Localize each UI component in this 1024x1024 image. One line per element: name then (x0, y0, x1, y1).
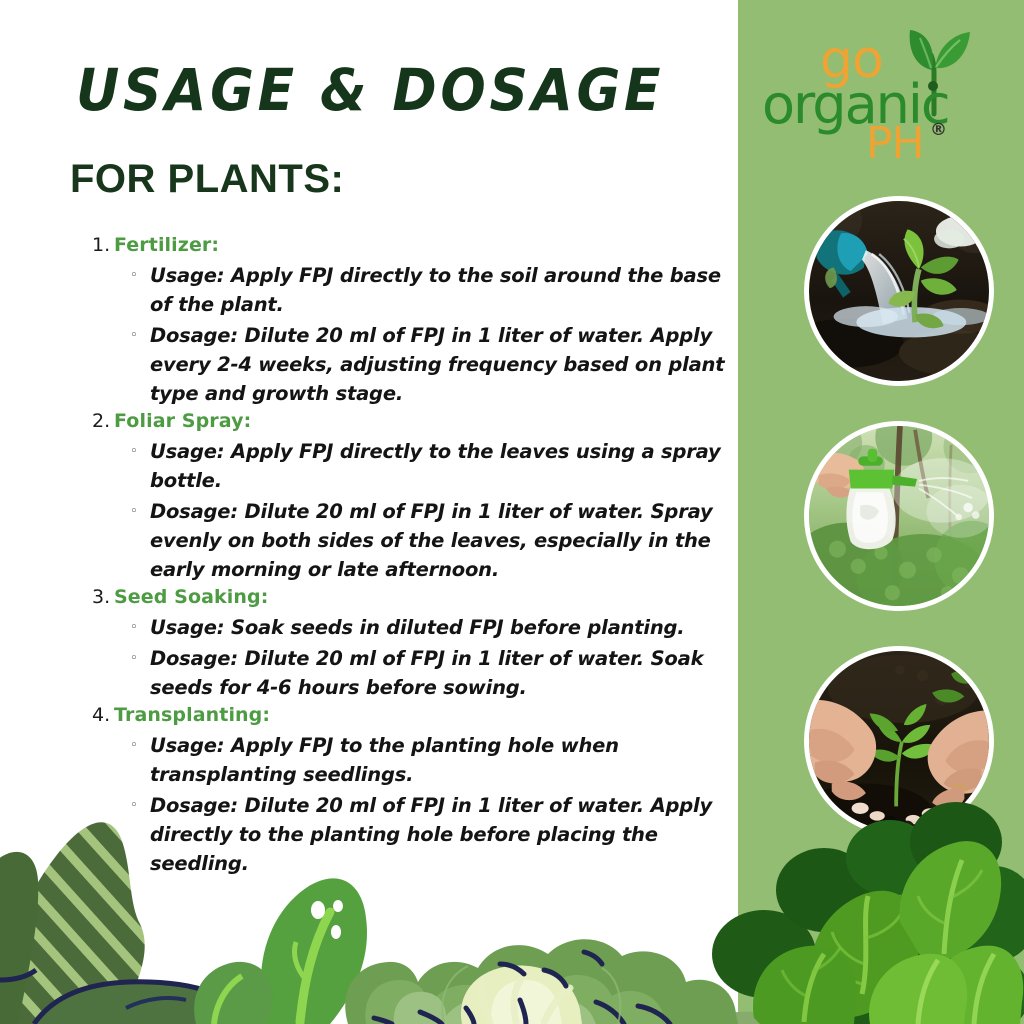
sub-list-item-text: Dosage: Dilute 20 ml of FPJ in 1 liter o… (150, 791, 732, 878)
list-item-number: 3. (92, 584, 114, 611)
hands-planting-photo (804, 646, 994, 836)
sub-list-item-text: Usage: Apply FPJ directly to the soil ar… (150, 261, 732, 319)
watering-can-photo (804, 196, 994, 386)
bullet-icon: ◦ (130, 613, 150, 642)
sub-list-item: ◦Usage: Apply FPJ directly to the soil a… (130, 261, 732, 319)
bullet-icon: ◦ (130, 644, 150, 673)
list-item-header: 3.Seed Soaking: (92, 584, 732, 611)
sub-list-item-text: Usage: Apply FPJ directly to the leaves … (150, 437, 732, 495)
sub-list: ◦Usage: Soak seeds in diluted FPJ before… (130, 613, 732, 702)
list-item-label: Seed Soaking: (114, 584, 268, 611)
sub-list-item-text: Dosage: Dilute 20 ml of FPJ in 1 liter o… (150, 497, 732, 584)
page-title: USAGE & DOSAGE (76, 56, 664, 124)
list-item-number: 1. (92, 232, 114, 259)
list-item-header: 1.Fertilizer: (92, 232, 732, 259)
list-item: 4.Transplanting:◦Usage: Apply FPJ to the… (92, 702, 732, 878)
list-item: 3.Seed Soaking:◦Usage: Soak seeds in dil… (92, 584, 732, 702)
bullet-icon: ◦ (130, 261, 150, 290)
sub-list-item: ◦Dosage: Dilute 20 ml of FPJ in 1 liter … (130, 791, 732, 878)
go-organic-ph-logo: go organic PH ® (762, 34, 998, 160)
bullet-icon: ◦ (130, 731, 150, 760)
sub-list-item: ◦Dosage: Dilute 20 ml of FPJ in 1 liter … (130, 321, 732, 408)
bullet-icon: ◦ (130, 497, 150, 526)
list-item-label: Fertilizer: (114, 232, 219, 259)
list-item-label: Foliar Spray: (114, 408, 251, 435)
bullet-icon: ◦ (130, 791, 150, 820)
sub-list-item: ◦Dosage: Dilute 20 ml of FPJ in 1 liter … (130, 644, 732, 702)
sub-list-item-text: Dosage: Dilute 20 ml of FPJ in 1 liter o… (150, 321, 732, 408)
list-item-number: 4. (92, 702, 114, 729)
list-item: 1.Fertilizer:◦Usage: Apply FPJ directly … (92, 232, 732, 408)
list-item: 2.Foliar Spray:◦Usage: Apply FPJ directl… (92, 408, 732, 584)
content-column: USAGE & DOSAGE FOR PLANTS: 1.Fertilizer:… (0, 0, 740, 1024)
list-item-number: 2. (92, 408, 114, 435)
bullet-icon: ◦ (130, 437, 150, 466)
section-subtitle: FOR PLANTS: (70, 157, 344, 202)
sub-list: ◦Usage: Apply FPJ to the planting hole w… (130, 731, 732, 878)
logo-text-ph: PH (866, 122, 924, 166)
sub-list-item: ◦Usage: Soak seeds in diluted FPJ before… (130, 613, 732, 642)
registered-trademark-icon: ® (930, 120, 947, 140)
sub-list-item-text: Usage: Apply FPJ to the planting hole wh… (150, 731, 732, 789)
sub-list: ◦Usage: Apply FPJ directly to the soil a… (130, 261, 732, 408)
sub-list-item: ◦Usage: Apply FPJ directly to the leaves… (130, 437, 732, 495)
sub-list: ◦Usage: Apply FPJ directly to the leaves… (130, 437, 732, 584)
sub-list-item: ◦Dosage: Dilute 20 ml of FPJ in 1 liter … (130, 497, 732, 584)
bullet-icon: ◦ (130, 321, 150, 350)
sub-list-item-text: Usage: Soak seeds in diluted FPJ before … (150, 613, 685, 642)
list-item-header: 2.Foliar Spray: (92, 408, 732, 435)
sub-list-item-text: Dosage: Dilute 20 ml of FPJ in 1 liter o… (150, 644, 732, 702)
spray-bottle-photo (804, 421, 994, 611)
list-item-label: Transplanting: (114, 702, 270, 729)
sub-list-item: ◦Usage: Apply FPJ to the planting hole w… (130, 731, 732, 789)
poster-canvas: go organic PH ® (0, 0, 1024, 1024)
list-item-header: 4.Transplanting: (92, 702, 732, 729)
usage-dosage-list: 1.Fertilizer:◦Usage: Apply FPJ directly … (92, 232, 732, 878)
